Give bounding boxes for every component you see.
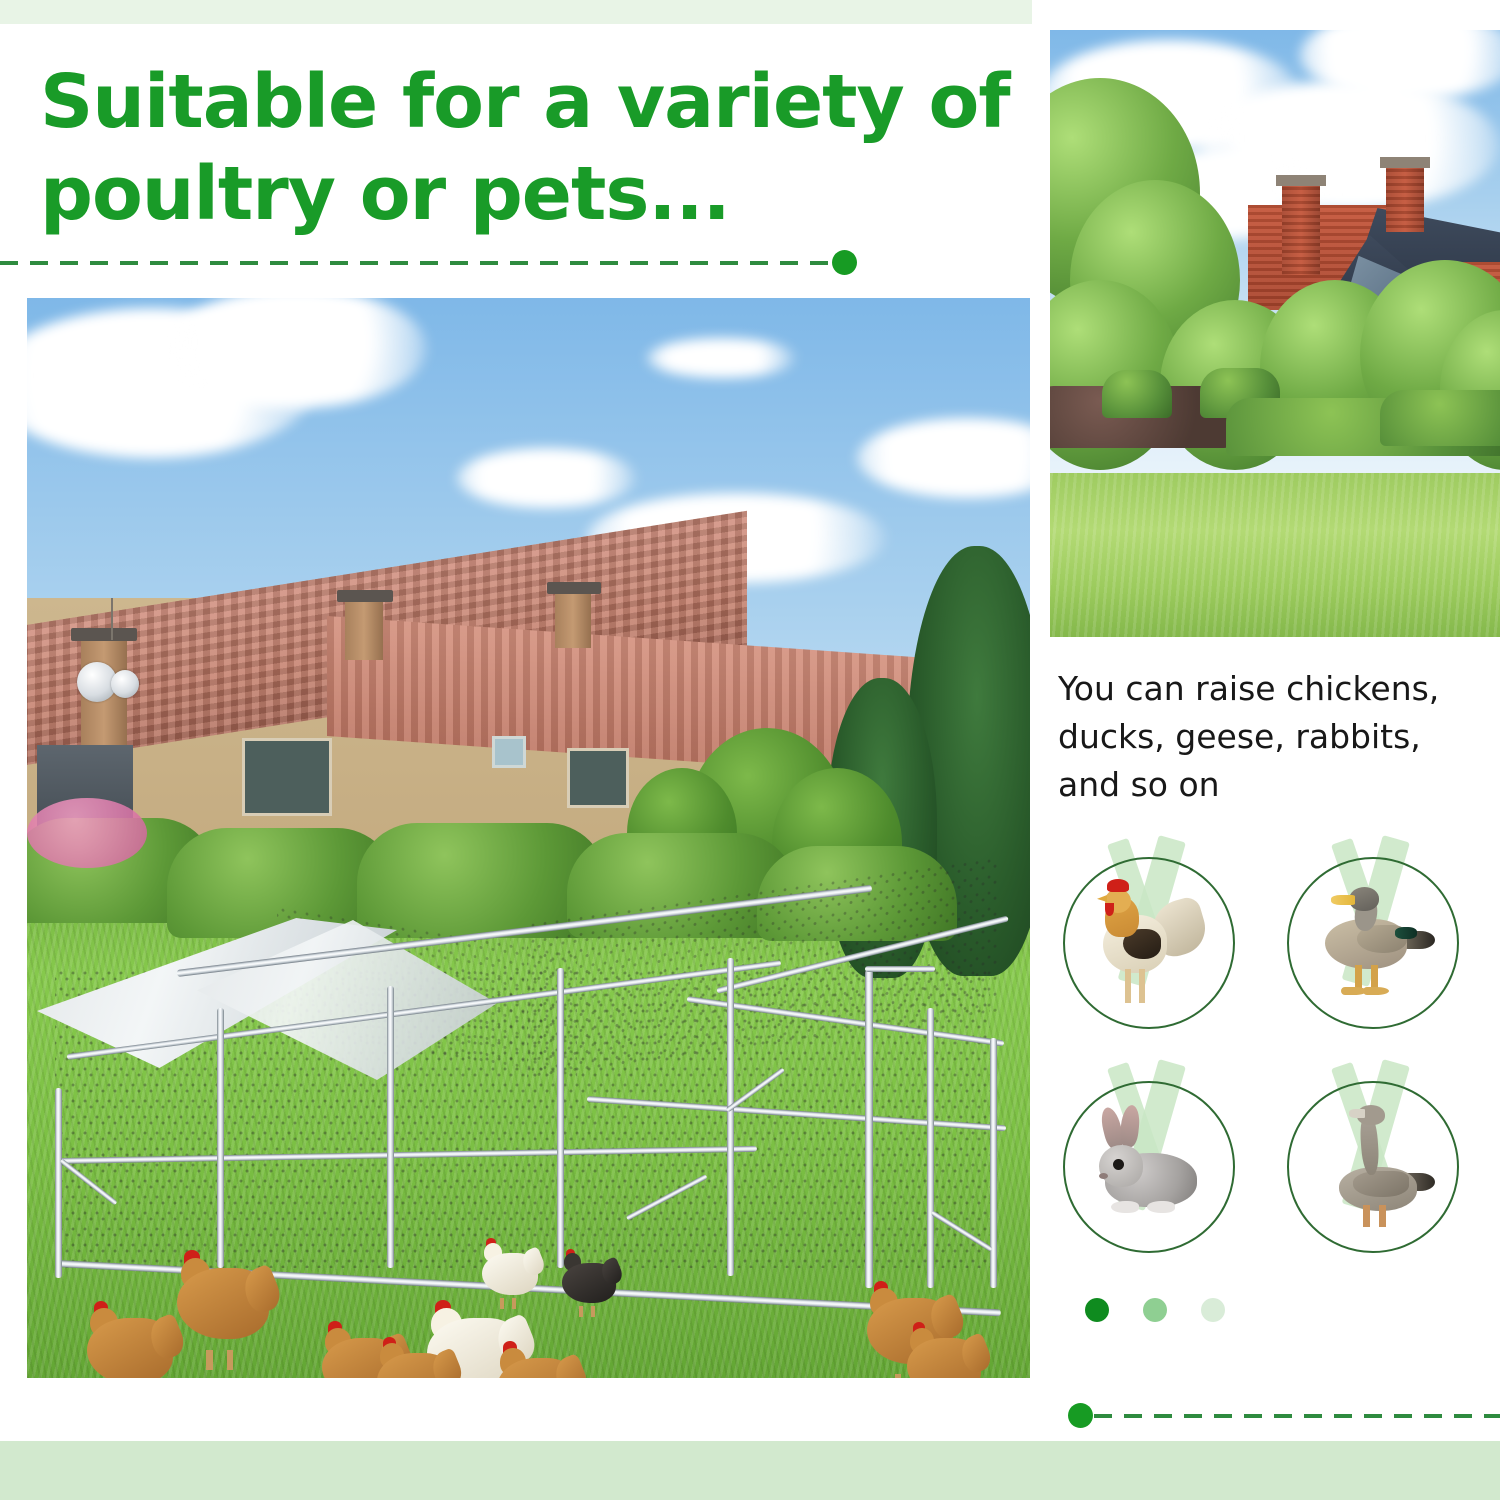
antenna-mast: [111, 598, 113, 640]
chimney-cap: [1380, 157, 1430, 168]
hedge-row: [1380, 390, 1500, 446]
rabbit-icon: [1089, 1105, 1217, 1235]
chimney-cap: [547, 582, 601, 594]
chimney-cap: [1276, 175, 1326, 186]
footer-divider: [1080, 1413, 1500, 1418]
description-line-1: You can raise chickens,: [1058, 665, 1478, 713]
chimney: [345, 598, 383, 660]
chicken: [377, 1343, 453, 1378]
goose-icon: [1313, 1105, 1441, 1235]
support-post: [217, 1008, 224, 1268]
divider-dot-icon: [832, 250, 857, 275]
chimney-cap: [337, 590, 393, 602]
door-post: [927, 1008, 934, 1288]
description-line-3: and so on: [1058, 761, 1478, 809]
chicken: [177, 1258, 269, 1356]
top-green-band: [0, 0, 1032, 24]
house-window: [567, 748, 629, 808]
headline-divider: [0, 260, 845, 265]
suitable-animals-grid: [1063, 845, 1483, 1265]
chicken: [907, 1328, 981, 1378]
support-post: [727, 958, 734, 1276]
house-window: [492, 736, 526, 768]
divider-dashes: [1094, 1414, 1500, 1418]
hero-product-photo[interactable]: [27, 298, 1030, 1378]
animal-item-rooster[interactable]: [1063, 845, 1259, 1041]
pagination-dot-1[interactable]: [1085, 1298, 1109, 1322]
satellite-dish-icon: [111, 670, 139, 698]
corner-post: [55, 1088, 62, 1278]
animal-item-goose[interactable]: [1287, 1069, 1483, 1265]
animal-item-rabbit[interactable]: [1063, 1069, 1259, 1265]
bottom-green-band: [0, 1441, 1500, 1500]
support-post: [387, 986, 394, 1268]
garden-scene-photo[interactable]: [1050, 30, 1500, 637]
door-post: [865, 970, 873, 1288]
chicken-inside-coop: [562, 1253, 616, 1309]
pagination-dot-3[interactable]: [1201, 1298, 1225, 1322]
description-line-2: ducks, geese, rabbits,: [1058, 713, 1478, 761]
chimney: [555, 590, 591, 648]
cloud: [457, 448, 637, 508]
description-text: You can raise chickens, ducks, geese, ra…: [1058, 665, 1478, 809]
divider-dashes: [0, 261, 845, 265]
door-header-bar: [865, 966, 935, 972]
carousel-pagination[interactable]: [1085, 1298, 1225, 1322]
house-window: [242, 738, 332, 816]
corner-post: [990, 1038, 997, 1288]
chicken: [497, 1348, 577, 1378]
duck-icon: [1313, 881, 1441, 1011]
chimney: [1386, 162, 1424, 232]
chimney: [1282, 180, 1320, 275]
page-title: Suitable for a variety of poultry or pet…: [40, 56, 1000, 240]
rooster-icon: [1089, 881, 1217, 1011]
headline-line-2: poultry or pets...: [40, 148, 1000, 240]
headline-line-1: Suitable for a variety of: [40, 56, 1000, 148]
support-post: [557, 968, 564, 1268]
pagination-dot-2[interactable]: [1143, 1298, 1167, 1322]
cloud: [647, 338, 797, 378]
animal-item-duck[interactable]: [1287, 845, 1483, 1041]
chicken-inside-coop: [482, 1243, 538, 1301]
hedge-ball: [1102, 370, 1172, 418]
divider-dot-icon: [1068, 1403, 1093, 1428]
lawn-grass: [1050, 473, 1500, 637]
chimney-cap: [71, 628, 137, 641]
chicken: [87, 1308, 173, 1378]
